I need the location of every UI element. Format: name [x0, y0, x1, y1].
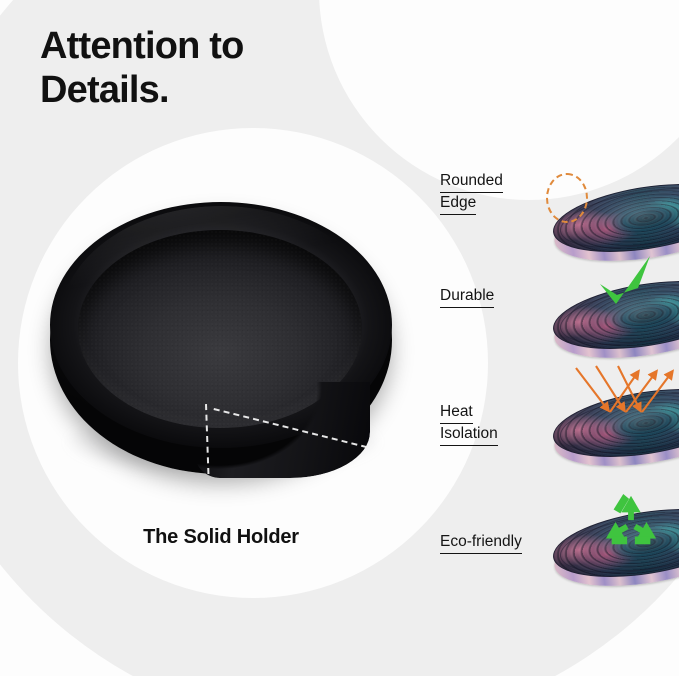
coaster-eco-friendly: [544, 490, 679, 586]
feature-label-heat-isolation: HeatIsolation: [440, 402, 558, 446]
feature-row-rounded-edge: RoundedEdge: [440, 165, 679, 261]
product-caption: The Solid Holder: [46, 526, 396, 549]
feature-label-line-1: Eco-friendly: [440, 532, 522, 554]
product-image: The Solid Holder: [46, 196, 396, 496]
feature-row-eco-friendly: Eco-friendly: [440, 490, 679, 586]
feature-label-rounded-edge: RoundedEdge: [440, 171, 558, 215]
dashed-circle-icon: [546, 173, 588, 223]
coaster-durable: [544, 262, 679, 358]
feature-row-durable: Durable: [440, 262, 679, 358]
feature-row-heat-isolation: HeatIsolation: [440, 370, 679, 466]
recycle-symbol-icon: [600, 494, 662, 552]
coaster-heat-isolation: [544, 370, 679, 466]
coaster-rounded-edge: [544, 165, 679, 261]
feature-label-line-2: Edge: [440, 193, 476, 215]
page-title: Attention to Details.: [40, 24, 440, 113]
check-mark-icon: [596, 254, 654, 312]
feature-label-line-1: Rounded: [440, 171, 503, 193]
heat-arrows-icon: [568, 360, 679, 432]
feature-label-line-1: Durable: [440, 286, 494, 308]
leather-holder-notch-panel: [194, 382, 370, 478]
feature-label-line-2: Isolation: [440, 424, 498, 446]
feature-label-line-1: Heat: [440, 402, 473, 424]
feature-label-durable: Durable: [440, 286, 558, 308]
product-infographic: Attention to Details. The Solid Holder R…: [0, 0, 679, 676]
